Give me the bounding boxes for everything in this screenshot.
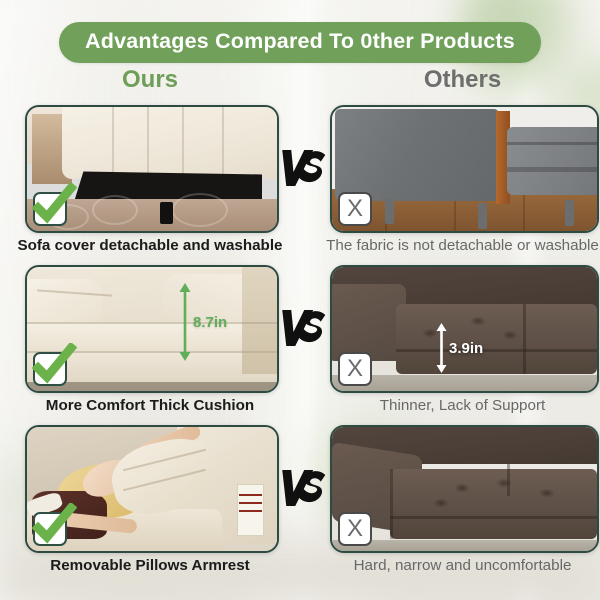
- status-badge-check: [33, 192, 67, 226]
- check-icon: [31, 343, 77, 389]
- caption-others-thin-cushion: Thinner, Lack of Support: [318, 393, 600, 419]
- vs-icon: [276, 301, 330, 353]
- ours-image-removable-pillows: [25, 425, 279, 553]
- column-heading-ours: Ours: [25, 66, 275, 94]
- status-badge-cross: X: [338, 512, 372, 546]
- ours-image-detachable-cover: [25, 105, 279, 233]
- vs-icon: [276, 141, 330, 193]
- check-icon: [31, 183, 77, 229]
- double-arrow-icon: [179, 283, 191, 361]
- caption-ours-removable-pillows: Removable Pillows Armrest: [12, 553, 288, 579]
- caption-others-hard-armrest: Hard, narrow and uncomfortable: [318, 553, 600, 579]
- header: Advantages Compared To 0ther Products: [0, 22, 600, 63]
- caption-ours-thick-cushion: More Comfort Thick Cushion: [12, 393, 288, 419]
- measurement-label-ours: 8.7in: [193, 314, 227, 331]
- vs-icon: [276, 461, 330, 513]
- cross-icon: X: [340, 514, 370, 544]
- check-icon: [31, 503, 77, 549]
- column-headings: Ours Others: [0, 66, 600, 100]
- status-badge-check: [33, 352, 67, 386]
- double-arrow-icon: [436, 323, 447, 373]
- others-image-hard-armrest: X: [330, 425, 599, 553]
- status-badge-cross: X: [338, 192, 372, 226]
- measurement-others-cushion: 3.9in: [436, 323, 483, 373]
- cross-icon: X: [340, 194, 370, 224]
- measurement-label-others: 3.9in: [449, 340, 483, 357]
- others-image-detachable-cover: X: [330, 105, 599, 233]
- ours-image-thick-cushion: 8.7in: [25, 265, 279, 393]
- status-badge-cross: X: [338, 352, 372, 386]
- page-title: Advantages Compared To 0ther Products: [59, 22, 541, 63]
- column-heading-others: Others: [330, 66, 595, 94]
- caption-ours-detachable-cover: Sofa cover detachable and washable: [12, 233, 288, 259]
- status-badge-check: [33, 512, 67, 546]
- measurement-ours-cushion: 8.7in: [179, 283, 227, 361]
- comparison-row-detachable-cover: X Sofa cover detachable and washable The…: [0, 105, 600, 265]
- caption-others-detachable-cover: The fabric is not detachable or washable: [318, 233, 600, 259]
- comparison-row-cushion-thickness: 8.7in: [0, 265, 600, 425]
- others-image-thin-cushion: 3.9in X: [330, 265, 599, 393]
- cross-icon: X: [340, 354, 370, 384]
- comparison-row-armrest: X Removable Pillows Armrest Hard, narrow…: [0, 425, 600, 585]
